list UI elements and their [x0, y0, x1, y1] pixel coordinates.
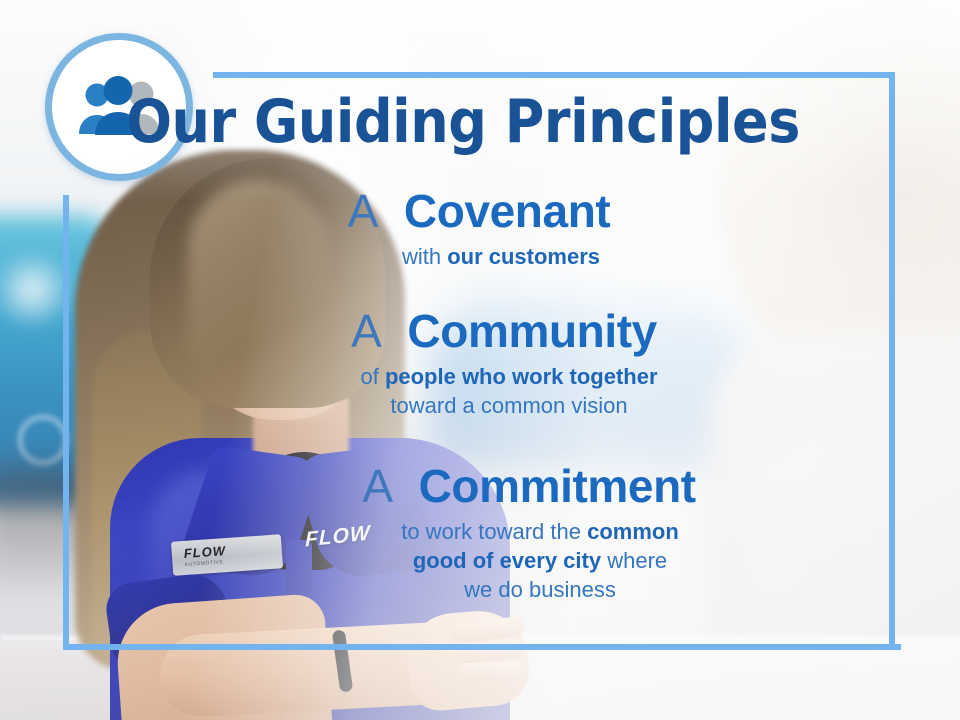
text-content: Our Guiding Principles A Covenant with o…	[63, 72, 895, 650]
principle-title: A Commitment	[63, 462, 895, 511]
page-title: Our Guiding Principles	[103, 92, 823, 152]
principle-description: with our customers	[63, 242, 895, 271]
principle-article: A	[351, 305, 394, 357]
principle-community: A Community of people who work togethert…	[63, 307, 895, 420]
principle-article: A	[362, 460, 405, 512]
principle-title: A Community	[63, 307, 895, 356]
principle-article: A	[348, 185, 391, 237]
principle-description: to work toward the commongood of every c…	[63, 517, 895, 604]
principle-commitment: A Commitment to work toward the commongo…	[63, 462, 895, 604]
principle-keyword: Covenant	[404, 185, 610, 237]
principle-covenant: A Covenant with our customers	[63, 187, 895, 271]
principle-description: of people who work togethertoward a comm…	[63, 362, 895, 420]
guiding-principles-banner: FLOW AUTOMOTIVE FLOW	[0, 0, 960, 720]
principle-keyword: Commitment	[419, 460, 696, 512]
principle-keyword: Community	[407, 305, 656, 357]
principle-title: A Covenant	[63, 187, 895, 236]
